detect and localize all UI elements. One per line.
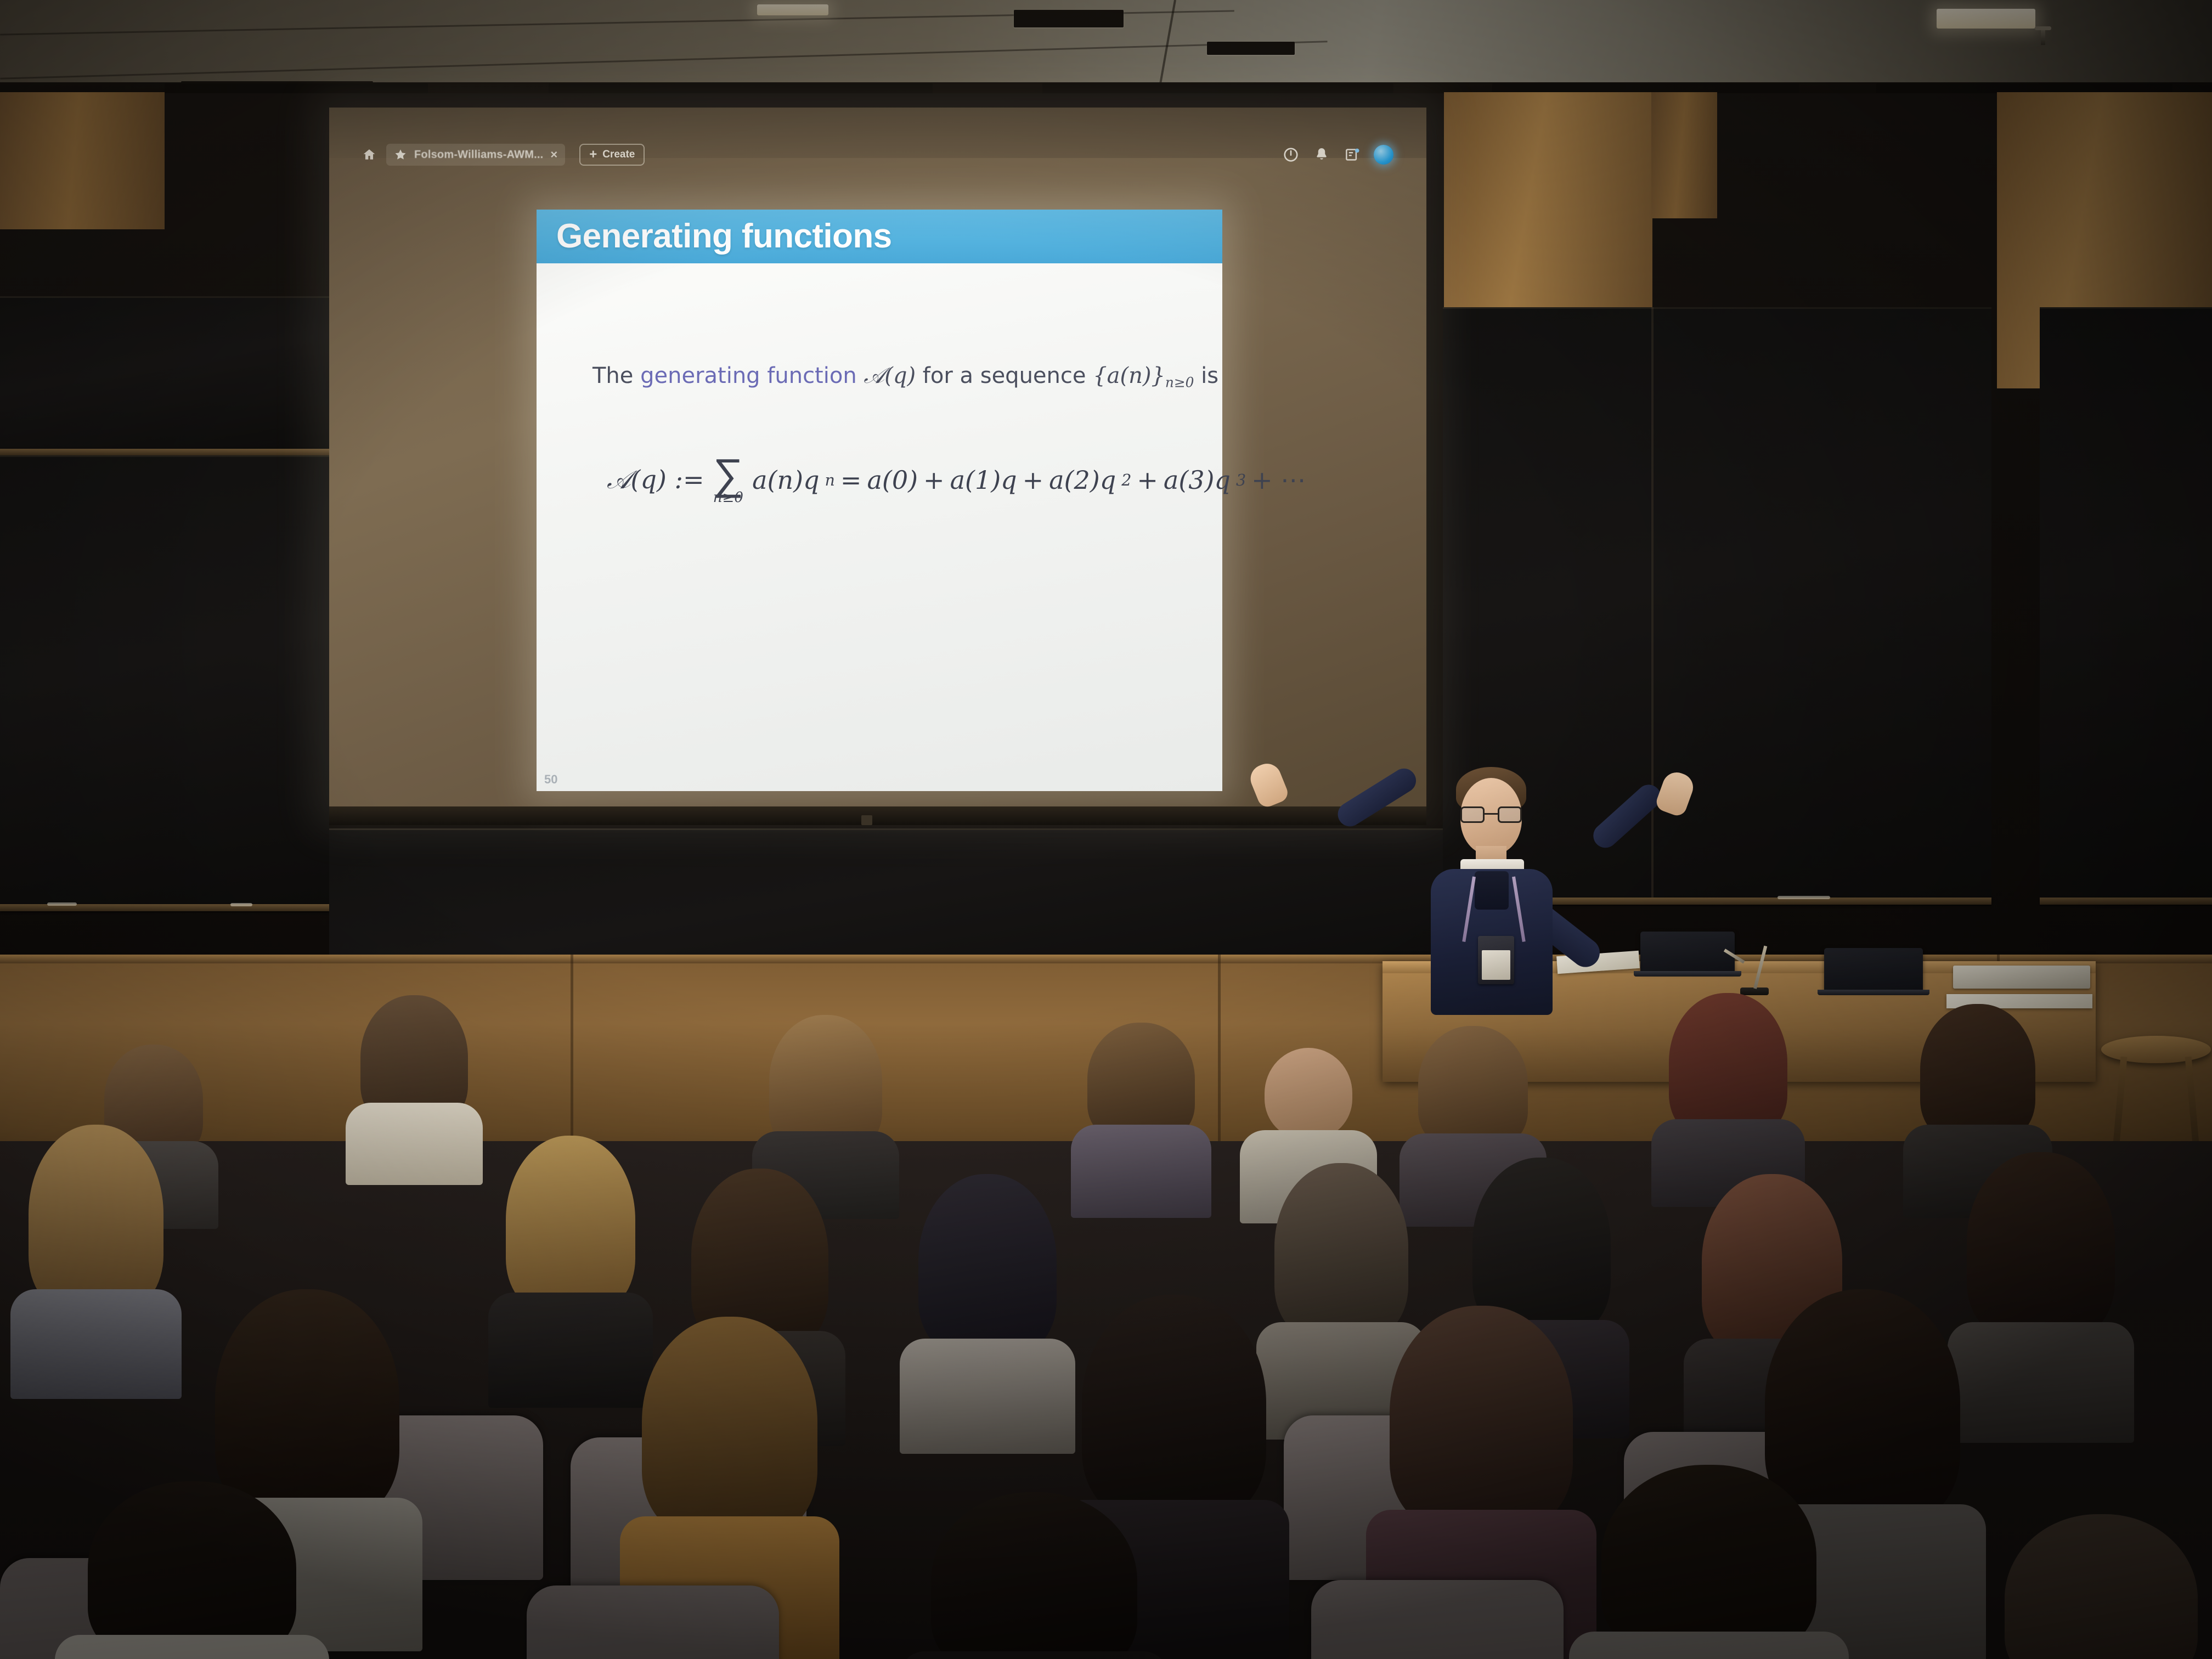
audience-member [1075, 1023, 1207, 1198]
glasses-lens-left [1460, 806, 1485, 823]
close-icon[interactable]: × [550, 149, 557, 161]
torso [900, 1339, 1075, 1454]
keyboard [1953, 966, 2090, 989]
hair [1082, 1295, 1266, 1520]
hair [1669, 993, 1787, 1138]
chalkboard-left-upper [0, 296, 329, 450]
equation-term-0: a(0) [867, 465, 918, 495]
account-avatar[interactable] [1374, 145, 1393, 165]
equation-op-2: + [1023, 465, 1044, 495]
hair [1418, 1026, 1528, 1148]
seat-back [1311, 1580, 1564, 1659]
sentence-sequence: {a(n)} [1093, 363, 1165, 388]
chalk-piece [1778, 896, 1830, 899]
hair [506, 1136, 635, 1311]
hair [88, 1481, 296, 1659]
browser-toolbar[interactable]: Folsom-Williams-AWM... × + Create [329, 138, 1426, 171]
audience-member [66, 1481, 318, 1659]
equation-term-1: a(1)q [950, 465, 1017, 495]
equation-term-3: a(3)q [1164, 465, 1231, 495]
lecture-hall-scene: Folsom-Williams-AWM... × + Create Genera… [0, 0, 2212, 1659]
torso [1569, 1632, 1849, 1659]
screenshot-icon[interactable] [1343, 145, 1362, 164]
sentence-accent: generating function [640, 363, 857, 388]
presentation-slide: Generating functions The generating func… [537, 210, 1222, 791]
audience-member [625, 1317, 834, 1624]
sentence-part1: The [592, 363, 640, 388]
audience [0, 1031, 2212, 1659]
glasses-lens-right [1498, 806, 1522, 823]
torso [1071, 1125, 1211, 1218]
name-badge [1478, 936, 1514, 984]
audience-member [911, 1492, 1158, 1659]
hair [1967, 1152, 2115, 1339]
wood-panel-upper-left [0, 92, 165, 229]
hair [1920, 1004, 2035, 1141]
ceiling-vent [1014, 10, 1124, 27]
tab-title: Folsom-Williams-AWM... [414, 149, 543, 161]
power-icon[interactable] [1282, 145, 1300, 164]
slide-title-bar: Generating functions [537, 210, 1222, 263]
equation-op-1: + [923, 465, 945, 495]
audience-member [494, 1136, 647, 1372]
slide-equation: 𝒜(q) := ∑ n≥0 a(n)qn = a(0) +a(1)q +a(2)… [607, 456, 1306, 504]
audience-member [905, 1174, 1070, 1410]
equation-lhs: 𝒜(q) := [607, 465, 704, 495]
summation-operator: ∑ n≥0 [713, 456, 744, 504]
presenter-hand-left [1246, 759, 1290, 809]
audience-member [1372, 1306, 1591, 1624]
torso [10, 1289, 182, 1399]
ceiling-light [757, 4, 828, 15]
hair [2005, 1514, 2198, 1659]
slide-title: Generating functions [556, 219, 891, 253]
equation-tail: + ⋯ [1251, 465, 1306, 495]
audience-member [16, 1125, 176, 1355]
create-button-label: Create [602, 149, 635, 161]
chalk-piece [47, 902, 77, 906]
hair [1390, 1306, 1573, 1530]
audience-member [351, 995, 477, 1160]
sentence-part2 [857, 363, 864, 388]
browser-toolbar-right[interactable] [1282, 138, 1393, 171]
presenter-forearm-right [1588, 780, 1666, 853]
torso [346, 1103, 483, 1185]
browser-tab[interactable]: Folsom-Williams-AWM... × [386, 144, 565, 166]
sum-limit: n≥0 [713, 492, 743, 504]
equation-term-2: a(2)q [1049, 465, 1116, 495]
hair [1601, 1465, 1816, 1657]
ceiling-light [1937, 9, 2035, 29]
chalk-tray [2040, 898, 2212, 905]
audience-member [1580, 1465, 1838, 1659]
wood-panel-strip [1651, 92, 1717, 218]
sigma-icon: ∑ [713, 456, 744, 493]
presenter-forearm-left [1333, 764, 1420, 831]
presenter-inner-shirt [1475, 871, 1509, 910]
hair [918, 1174, 1057, 1355]
laptop-right-base [1818, 990, 1929, 995]
sentence-sequence-sub: n≥0 [1165, 374, 1194, 390]
presenter [1245, 752, 1706, 1015]
hair [642, 1317, 817, 1536]
sprinkler-head [2041, 26, 2045, 45]
plus-icon: + [589, 148, 597, 161]
torso [55, 1635, 329, 1659]
hair [931, 1492, 1137, 1659]
ceiling-seam [0, 41, 1327, 80]
chalkboard-far-right [2040, 307, 2212, 900]
chalk-piece [230, 903, 252, 906]
hair [29, 1125, 163, 1311]
equation-term-2-exp: 2 [1121, 471, 1131, 489]
bell-icon[interactable] [1312, 145, 1331, 164]
equation-summand: a(n)q [752, 465, 819, 495]
slide-body: The generating function 𝒜(q) for a seque… [537, 263, 1222, 791]
sentence-part4: is [1194, 363, 1218, 388]
equation-equals: = [840, 465, 862, 495]
hair [1087, 1023, 1195, 1140]
star-icon [394, 148, 407, 161]
glasses-icon [1460, 806, 1523, 823]
torso [900, 1651, 1169, 1659]
audience-member [757, 1015, 894, 1190]
head [1265, 1048, 1352, 1139]
seat-back [527, 1585, 779, 1659]
glasses-bridge [1485, 813, 1498, 815]
chalkboard-left-lower [0, 455, 329, 905]
audience-member [1986, 1514, 2212, 1659]
sentence-part3: for a sequence [916, 363, 1093, 388]
sentence-symbol: 𝒜(q) [864, 363, 916, 388]
presenter-hand-right [1654, 769, 1697, 819]
equation-op-3: + [1137, 465, 1158, 495]
ceiling-vent [1207, 42, 1295, 55]
home-icon[interactable] [361, 146, 377, 163]
equation-summand-exponent: n [825, 471, 835, 489]
slide-sentence: The generating function 𝒜(q) for a seque… [592, 363, 1218, 390]
equation-term-3-exp: 3 [1236, 471, 1246, 489]
create-button[interactable]: + Create [579, 144, 645, 166]
audience-member [1657, 993, 1799, 1180]
screen-pull-tab [861, 815, 872, 825]
laptop-right [1824, 948, 1923, 991]
slide-page-number: 50 [544, 772, 557, 787]
